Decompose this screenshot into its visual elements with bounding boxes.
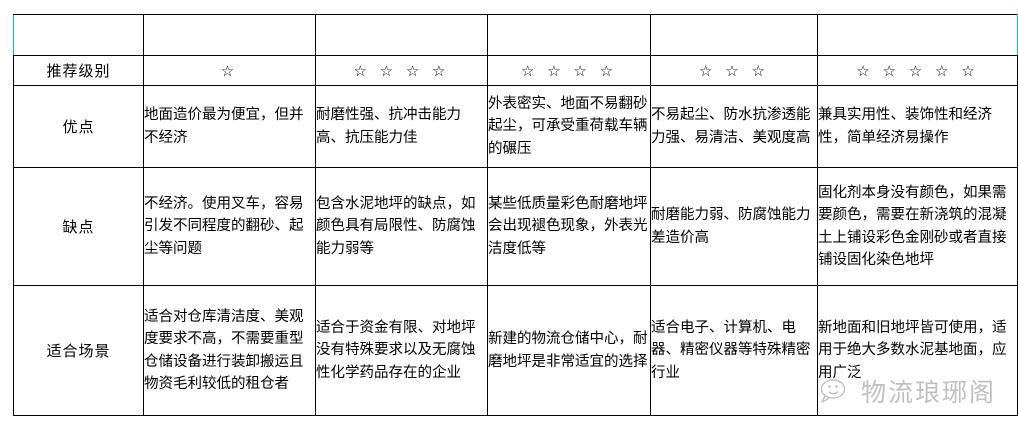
row-label-advantages: 优点 bbox=[14, 86, 144, 168]
column-header-emery: 金刚砂地坪 bbox=[316, 15, 488, 56]
table-row-rating: 推荐级别 ☆ ☆ ☆ ☆ ☆ ☆ ☆ ☆ ☆ ☆ ☆ ☆ ☆ ☆ ☆ ☆ ☆ bbox=[14, 56, 1018, 86]
advantages-epoxy: 不易起尘、防水抗渗透能力强、易清洁、美观度高 bbox=[651, 86, 818, 168]
rating-stars-hardened: ☆ ☆ ☆ ☆ ☆ bbox=[818, 56, 1018, 86]
column-header-type: 地坪类型 bbox=[14, 15, 144, 56]
scenarios-wear: 新建的物流仓储中心，耐磨地坪是非常适宜的选择 bbox=[488, 286, 651, 416]
row-label-rating: 推荐级别 bbox=[14, 56, 144, 86]
column-header-wear: 耐磨地坪 bbox=[488, 15, 651, 56]
table-row-scenarios: 适合场景 适合对仓库清洁度、美观度要求不高，不需要重型仓储设备进行装卸搬运且物资… bbox=[14, 286, 1018, 416]
header-row: 地坪类型 水泥地坪 金刚砂地坪 耐磨地坪 环氧地坪 硬化地坪 bbox=[14, 15, 1018, 56]
rating-stars-epoxy: ☆ ☆ ☆ bbox=[651, 56, 818, 86]
column-header-epoxy: 环氧地坪 bbox=[651, 15, 818, 56]
advantages-hardened: 兼具实用性、装饰性和经济性，简单经济易操作 bbox=[818, 86, 1018, 168]
table-header: 地坪类型 水泥地坪 金刚砂地坪 耐磨地坪 环氧地坪 硬化地坪 bbox=[14, 15, 1018, 56]
rating-stars-wear: ☆ ☆ ☆ ☆ bbox=[488, 56, 651, 86]
scenarios-emery: 适合于资金有限、对地坪没有特殊要求以及无腐蚀性化学药品存在的企业 bbox=[316, 286, 488, 416]
drawbacks-emery: 包含水泥地坪的缺点，如颜色具有局限性、防腐蚀能力弱等 bbox=[316, 168, 488, 286]
scenarios-cement: 适合对仓库清洁度、美观度要求不高，不需要重型仓储设备进行装卸搬运且物资毛利较低的… bbox=[144, 286, 316, 416]
table-row-drawbacks: 缺点 不经济。使用叉车，容易引发不同程度的翻砂、起尘等问题 包含水泥地坪的缺点，… bbox=[14, 168, 1018, 286]
drawbacks-cement: 不经济。使用叉车，容易引发不同程度的翻砂、起尘等问题 bbox=[144, 168, 316, 286]
table-body: 推荐级别 ☆ ☆ ☆ ☆ ☆ ☆ ☆ ☆ ☆ ☆ ☆ ☆ ☆ ☆ ☆ ☆ ☆ 优… bbox=[14, 56, 1018, 416]
drawbacks-epoxy: 耐磨能力弱、防腐蚀能力差造价高 bbox=[651, 168, 818, 286]
scenarios-epoxy: 适合电子、计算机、电器、精密仪器等特殊精密行业 bbox=[651, 286, 818, 416]
advantages-cement: 地面造价最为便宜，但并不经济 bbox=[144, 86, 316, 168]
drawbacks-hardened: 固化剂本身没有颜色，如果需要颜色，需要在新浇筑的混凝土上铺设彩色金刚砂或者直接铺… bbox=[818, 168, 1018, 286]
rating-stars-cement: ☆ bbox=[144, 56, 316, 86]
comparison-sheet: 地坪类型 水泥地坪 金刚砂地坪 耐磨地坪 环氧地坪 硬化地坪 推荐级别 ☆ ☆ … bbox=[0, 0, 1018, 431]
flooring-comparison-table: 地坪类型 水泥地坪 金刚砂地坪 耐磨地坪 环氧地坪 硬化地坪 推荐级别 ☆ ☆ … bbox=[13, 14, 1018, 416]
drawbacks-wear: 某些低质量彩色耐磨地坪会出现褪色现象，外表光洁度低等 bbox=[488, 168, 651, 286]
scenarios-hardened: 新地面和旧地坪皆可使用，适用于绝大多数水泥基地面，应用广泛 bbox=[818, 286, 1018, 416]
column-header-cement: 水泥地坪 bbox=[144, 15, 316, 56]
advantages-emery: 耐磨性强、抗冲击能力高、抗压能力佳 bbox=[316, 86, 488, 168]
row-label-scenarios: 适合场景 bbox=[14, 286, 144, 416]
table-row-advantages: 优点 地面造价最为便宜，但并不经济 耐磨性强、抗冲击能力高、抗压能力佳 外表密实… bbox=[14, 86, 1018, 168]
column-header-hardened: 硬化地坪 bbox=[818, 15, 1018, 56]
advantages-wear: 外表密实、地面不易翻砂起尘，可承受重荷载车辆的碾压 bbox=[488, 86, 651, 168]
rating-stars-emery: ☆ ☆ ☆ ☆ bbox=[316, 56, 488, 86]
row-label-drawbacks: 缺点 bbox=[14, 168, 144, 286]
